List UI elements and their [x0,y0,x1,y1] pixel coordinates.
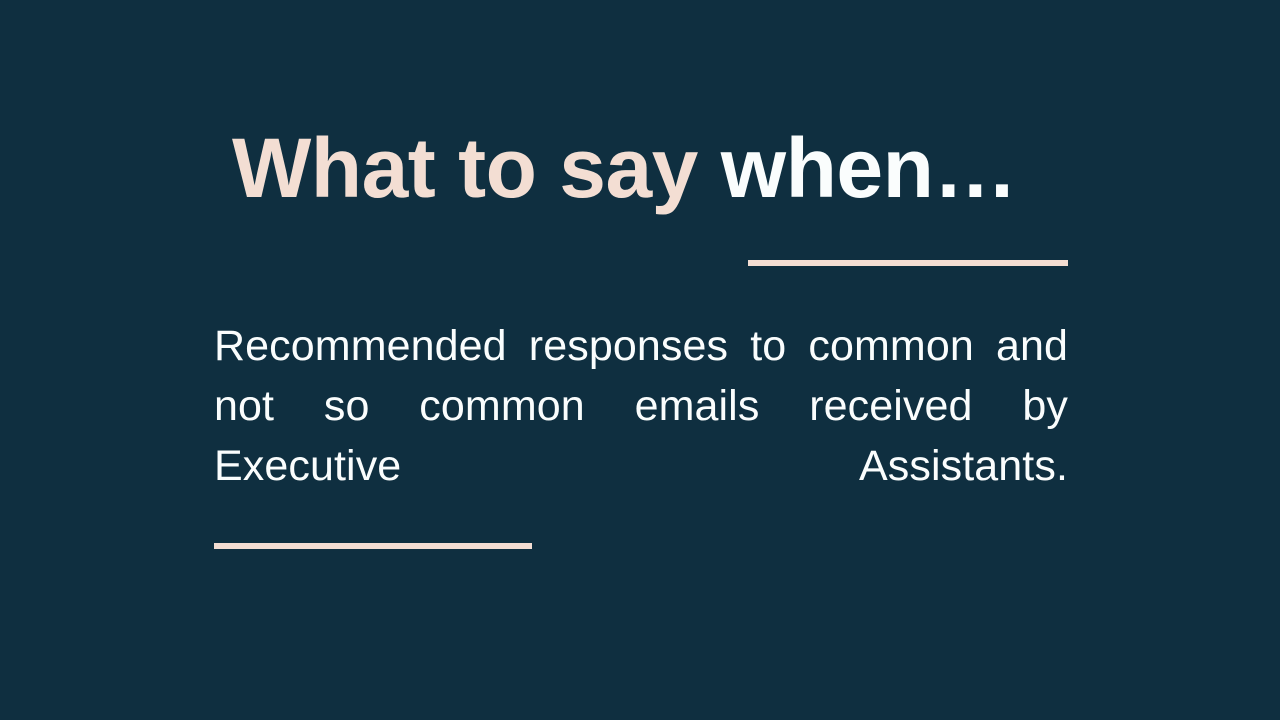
title-accent-text: What to say [232,121,721,215]
body-paragraph: Recommended responses to common and not … [214,316,1068,556]
title-block: What to say when… [232,118,1112,218]
page-title: What to say when… [232,118,1112,218]
bottom-accent-rule [214,543,532,549]
slide-canvas: What to say when… Recommended responses … [0,0,1280,720]
body-block: Recommended responses to common and not … [214,316,1068,556]
title-plain-text: when… [721,121,1017,215]
top-accent-rule [748,260,1068,266]
